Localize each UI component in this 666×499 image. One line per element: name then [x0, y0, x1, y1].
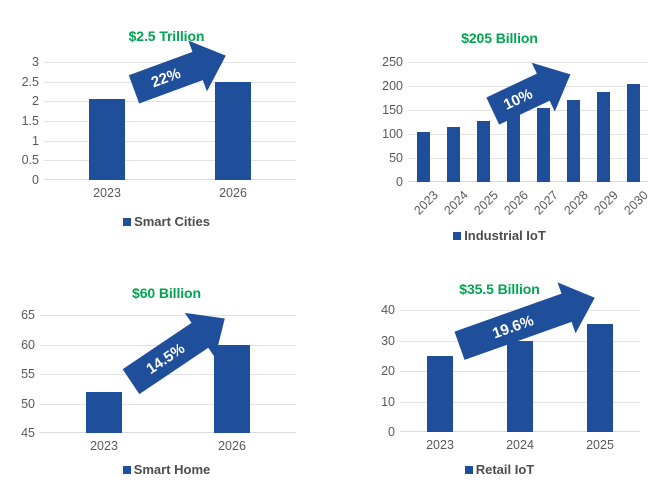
y-axis-tick-label: 50 — [389, 151, 403, 165]
chart-title-smart-cities: $2.5 Trillion — [0, 28, 333, 44]
y-axis-tick-label: 100 — [382, 127, 403, 141]
legend-retail-iot: Retail IoT — [333, 462, 666, 477]
y-axis-tick-label: 30 — [381, 334, 395, 348]
y-axis-tick-label: 0 — [32, 173, 39, 187]
legend-swatch-icon — [453, 232, 461, 240]
y-axis-tick-label: 20 — [381, 364, 395, 378]
chart-title-industrial-iot: $205 Billion — [333, 30, 666, 46]
plot-area-retail-iot: 01020304020232024202519.6% — [400, 310, 640, 432]
legend-industrial-iot: Industrial IoT — [333, 228, 666, 243]
y-axis-tick-label: 0.5 — [22, 153, 39, 167]
x-axis-tick-label: 2026 — [193, 186, 273, 200]
y-axis-tick-label: 40 — [381, 303, 395, 317]
x-axis-tick-label: 2025 — [560, 438, 640, 452]
y-axis-tick-label: 2.5 — [22, 75, 39, 89]
legend-swatch-icon — [123, 218, 131, 226]
x-axis-tick-label: 2023 — [400, 438, 480, 452]
plot-area-smart-cities: 00.511.522.532023202622% — [44, 62, 296, 180]
legend-smart-cities: Smart Cities — [0, 214, 333, 229]
x-axis-tick-label: 2024 — [480, 438, 560, 452]
y-axis-tick-label: 200 — [382, 79, 403, 93]
growth-arrow-annotation: 19.6% — [400, 310, 640, 432]
legend-swatch-icon — [123, 466, 131, 474]
legend-label-retail-iot: Retail IoT — [476, 462, 535, 477]
y-axis-tick-label: 250 — [382, 55, 403, 69]
y-axis-tick-label: 55 — [21, 367, 35, 381]
y-axis-tick-label: 0 — [396, 175, 403, 189]
y-axis-tick-label: 1.5 — [22, 114, 39, 128]
plot-area-smart-home: 45505560652023202614.5% — [40, 315, 296, 433]
y-axis-tick-label: 2 — [32, 94, 39, 108]
y-axis-tick-label: 150 — [382, 103, 403, 117]
x-axis-tick-label: 2026 — [192, 439, 272, 453]
chart-title-smart-home: $60 Billion — [0, 285, 333, 301]
dashboard-chart-grid: $2.5 Trillion 00.511.522.532023202622% S… — [0, 0, 666, 499]
y-axis-tick-label: 65 — [21, 308, 35, 322]
legend-label-industrial-iot: Industrial IoT — [464, 228, 546, 243]
plot-area-industrial-iot: 0501001502002502023202420252026202720282… — [408, 62, 648, 182]
x-axis-tick-label: 2023 — [67, 186, 147, 200]
growth-arrow-annotation: 22% — [44, 62, 296, 180]
legend-smart-home: Smart Home — [0, 462, 333, 477]
legend-swatch-icon — [465, 466, 473, 474]
chart-panel-smart-cities: $2.5 Trillion 00.511.522.532023202622% S… — [0, 0, 333, 250]
y-axis-tick-label: 1 — [32, 134, 39, 148]
legend-label-smart-home: Smart Home — [134, 462, 211, 477]
growth-arrow-annotation: 10% — [408, 62, 648, 182]
chart-panel-industrial-iot: $205 Billion 050100150200250202320242025… — [333, 0, 666, 250]
y-axis-tick-label: 60 — [21, 338, 35, 352]
legend-label-smart-cities: Smart Cities — [134, 214, 210, 229]
y-axis-tick-label: 3 — [32, 55, 39, 69]
y-axis-tick-label: 10 — [381, 395, 395, 409]
chart-panel-retail-iot: $35.5 Billion 01020304020232024202519.6%… — [333, 250, 666, 499]
x-axis-tick-label: 2023 — [64, 439, 144, 453]
growth-arrow-annotation: 14.5% — [40, 315, 296, 433]
y-axis-tick-label: 45 — [21, 426, 35, 440]
chart-title-retail-iot: $35.5 Billion — [333, 281, 666, 297]
chart-panel-smart-home: $60 Billion 45505560652023202614.5% Smar… — [0, 250, 333, 499]
y-axis-tick-label: 0 — [388, 425, 395, 439]
y-axis-tick-label: 50 — [21, 397, 35, 411]
